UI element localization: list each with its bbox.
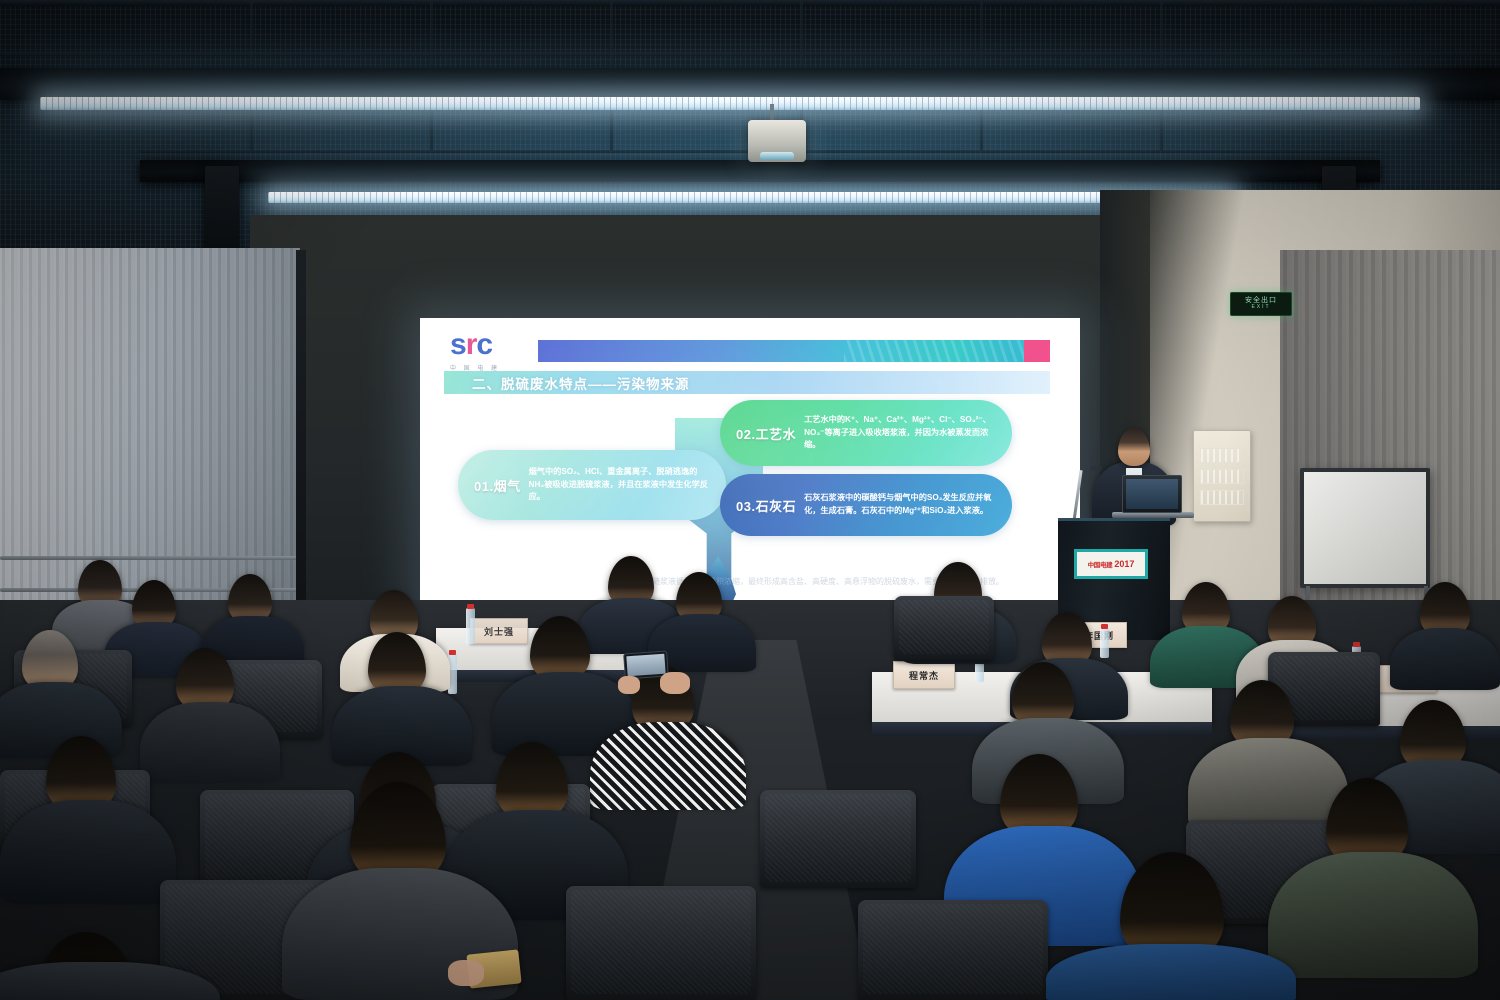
callout-01-body: 烟气中的SO₂、HCl、重金属离子、脱硝逃逸的NH₃被吸收进脱硫浆液，并且在浆液… — [529, 466, 726, 504]
audience-shoulders — [1188, 738, 1348, 828]
projector-lens-icon — [760, 152, 794, 160]
ceiling-beam-front — [0, 68, 1500, 100]
control-panel-switch-row[interactable] — [1200, 490, 1244, 505]
phone-screen — [626, 654, 665, 677]
ceiling-rail — [0, 0, 1500, 6]
control-panel-switch-row[interactable] — [1200, 469, 1244, 484]
chair — [566, 886, 756, 1000]
nameplate-front-left-text: 刘士强 — [484, 625, 514, 638]
microphone-head-icon — [1090, 466, 1102, 471]
exit-sign-cn-label: 安全出口 — [1245, 297, 1277, 304]
wall-light-control-panel[interactable] — [1193, 430, 1251, 522]
callout-02-body: 工艺水中的K⁺、Na⁺、Ca²⁺、Mg²⁺、Cl⁻、SO₄²⁻、NO₃⁻等离子进… — [804, 414, 1012, 452]
audience-shoulders-foreground — [1046, 944, 1296, 1000]
audience-hand — [618, 676, 640, 694]
laptop-screen — [1126, 479, 1178, 509]
ceiling-projector — [748, 120, 806, 162]
logo-part-2: r — [466, 328, 477, 361]
exit-sign: 安全出口 EXIT — [1230, 292, 1292, 316]
exit-sign-en-label: EXIT — [1251, 304, 1270, 312]
chair — [894, 596, 994, 660]
callout-03-body: 石灰石浆液中的碳酸钙与烟气中的SO₂发生反应并氧化，生成石膏。石灰石中的Mg²⁺… — [804, 492, 1012, 517]
callout-02-process-water: 02.工艺水 工艺水中的K⁺、Na⁺、Ca²⁺、Mg²⁺、Cl⁻、SO₄²⁻、N… — [720, 400, 1012, 466]
logo-part-1: s — [450, 328, 466, 361]
nameplate-center-text: 程常杰 — [909, 669, 939, 682]
back-light-bar — [268, 192, 1233, 203]
nameplate-front-left: 刘士强 — [470, 618, 528, 644]
logo-part-3: c — [476, 328, 492, 361]
slide-title: 二、脱硫废水特点——污染物来源 — [472, 373, 690, 393]
control-panel-switch-row[interactable] — [1200, 448, 1244, 463]
callout-01-number: 01.烟气 — [458, 476, 529, 495]
callout-03-number: 03.石灰石 — [720, 496, 804, 515]
callout-02-number: 02.工艺水 — [720, 424, 804, 443]
water-bottle — [466, 608, 475, 644]
audience-shoulders — [1390, 628, 1500, 690]
whiteboard — [1300, 468, 1430, 588]
audience-shoulders-patterned — [590, 722, 746, 810]
logo-wordmark: src — [450, 330, 530, 360]
audience-shoulders — [1268, 852, 1478, 978]
water-bottle — [1100, 628, 1109, 658]
callout-01-flue-gas: 01.烟气 烟气中的SO₂、HCl、重金属离子、脱硝逃逸的NH₃被吸收进脱硫浆液… — [458, 450, 726, 520]
audience-shoulders — [0, 800, 176, 904]
ceiling-beam-back — [140, 160, 1380, 182]
header-wave-graphic — [844, 340, 1024, 362]
right-wall-curtain — [1280, 250, 1500, 650]
conference-room-scene: 安全出口 EXIT src 中 国 电 建 二、脱硫废水特点——污染物来源 — [0, 0, 1500, 1000]
slide-title-bar: 二、脱硫废水特点——污染物来源 — [444, 371, 1050, 394]
chair — [858, 900, 1048, 1000]
podium-sign: 中国电建 2017 — [1074, 549, 1148, 579]
left-wall-column — [296, 250, 306, 650]
ceiling-rail — [0, 52, 1500, 56]
company-logo: src 中 国 电 建 — [450, 330, 530, 372]
chair — [760, 790, 916, 888]
audience-hand — [448, 960, 484, 986]
podium-sign-prefix: 中国电建 — [1088, 559, 1113, 569]
callout-03-limestone: 03.石灰石 石灰石浆液中的碳酸钙与烟气中的SO₂发生反应并氧化，生成石膏。石灰… — [720, 474, 1012, 536]
front-light-bar — [40, 97, 1420, 110]
nameplate-center: 程常杰 — [893, 661, 955, 689]
presenter-laptop[interactable] — [1122, 475, 1182, 513]
slide-header-band — [538, 340, 1050, 362]
left-railing — [0, 556, 300, 560]
audience-hand — [660, 672, 690, 694]
podium-sign-year: 2017 — [1114, 559, 1134, 569]
audience-shoulders — [140, 702, 280, 782]
